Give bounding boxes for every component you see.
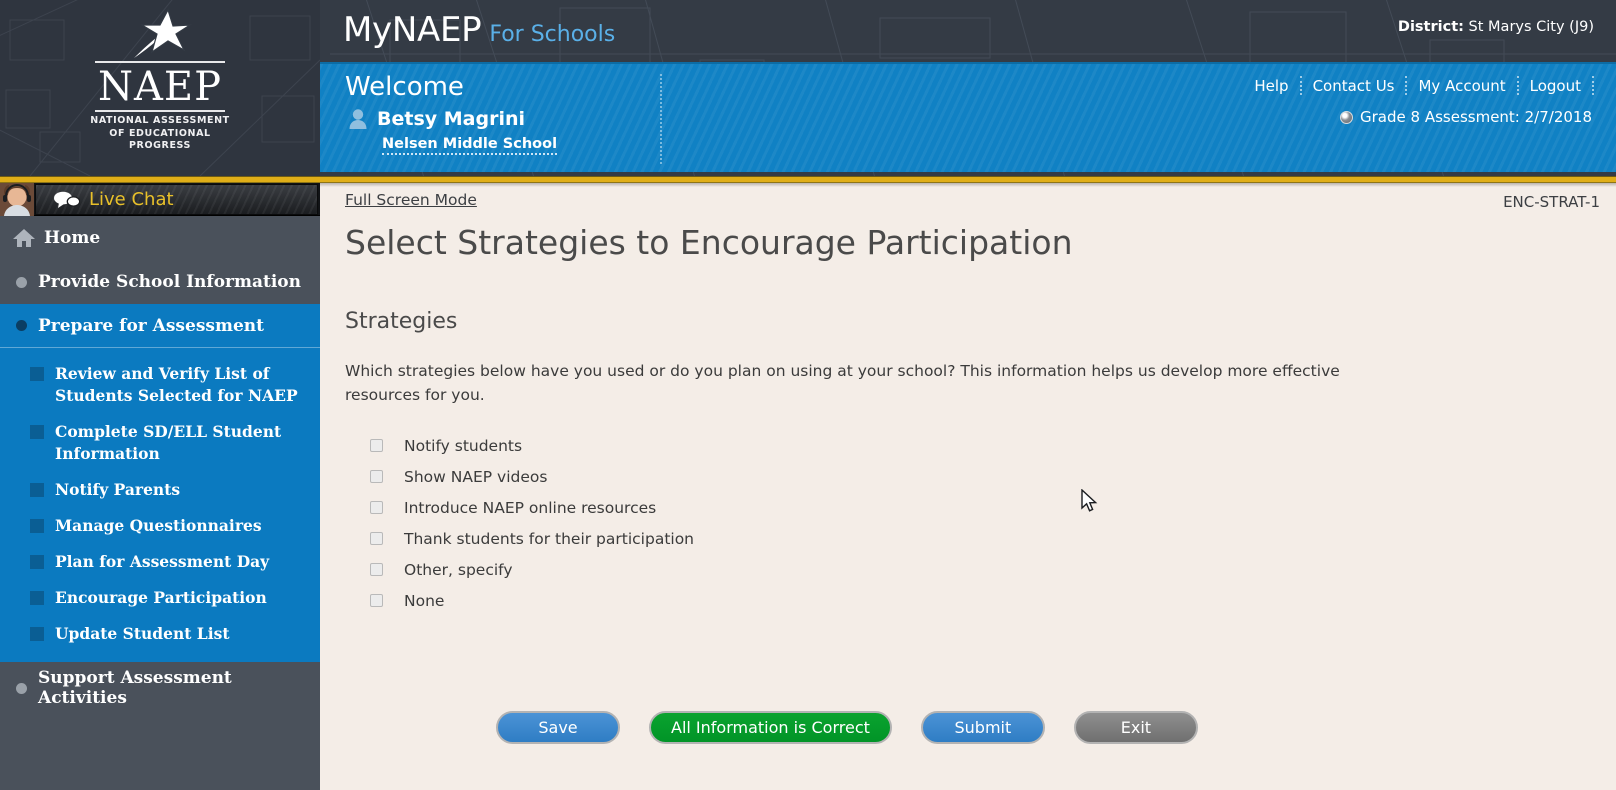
strategy-row: None <box>370 585 694 616</box>
checkbox-square-icon <box>30 367 44 381</box>
top-nav-links: Help Contact Us My Account Logout <box>1243 76 1594 95</box>
live-chat-agent-avatar <box>0 183 34 216</box>
exit-button[interactable]: Exit <box>1074 711 1198 744</box>
welcome-heading: Welcome <box>345 72 464 102</box>
strategy-checkbox-show-naep-videos[interactable] <box>370 470 383 483</box>
sidebar-item-home[interactable]: Home <box>0 216 320 260</box>
sidebar-item-review-and-verify-list[interactable]: Review and Verify List of Students Selec… <box>0 356 320 414</box>
sidebar-subitem-label: Manage Questionnaires <box>55 515 262 537</box>
sidebar-subitem-label: Review and Verify List of Students Selec… <box>55 363 310 407</box>
sidebar-subitem-label: Update Student List <box>55 623 229 645</box>
sidebar-item-encourage-participation[interactable]: Encourage Participation <box>0 580 320 616</box>
brand-mynaep: MyNAEP <box>343 10 481 50</box>
strategy-row: Other, specify <box>370 554 694 585</box>
strategy-label: Other, specify <box>404 561 513 579</box>
user-avatar-icon <box>348 108 368 130</box>
nav-link-my-account[interactable]: My Account <box>1407 77 1516 95</box>
sidebar-item-provide-school-information[interactable]: Provide School Information <box>0 260 320 304</box>
district-value: St Marys City (J9) <box>1469 19 1594 35</box>
gold-divider-bar <box>0 176 1616 183</box>
sidebar-item-prepare-for-assessment-label: Prepare for Assessment <box>38 316 264 336</box>
checkbox-square-icon <box>30 627 44 641</box>
mouse-cursor <box>1081 489 1098 514</box>
checkbox-square-icon <box>30 425 44 439</box>
bullet-icon <box>16 277 27 288</box>
strategy-checkbox-thank-students[interactable] <box>370 532 383 545</box>
brand-for-schools: For Schools <box>489 22 615 47</box>
strategies-checklist: Notify students Show NAEP videos Introdu… <box>370 430 694 616</box>
sidebar-item-manage-questionnaires[interactable]: Manage Questionnaires <box>0 508 320 544</box>
all-information-is-correct-button[interactable]: All Information is Correct <box>649 711 892 744</box>
checkbox-square-icon <box>30 591 44 605</box>
strategy-checkbox-notify-students[interactable] <box>370 439 383 452</box>
mynaep-application: NAEP NATIONAL ASSESSMENT OF EDUCATIONAL … <box>0 0 1616 790</box>
strategy-row: Introduce NAEP online resources <box>370 492 694 523</box>
save-button[interactable]: Save <box>496 711 620 744</box>
strategy-label: Show NAEP videos <box>404 468 547 486</box>
strategy-label: None <box>404 592 444 610</box>
sidebar-navigation: Live Chat Home Provide School Informatio… <box>0 183 320 790</box>
welcome-divider <box>660 74 662 164</box>
sidebar-item-home-label: Home <box>44 228 100 248</box>
strategy-checkbox-none[interactable] <box>370 594 383 607</box>
page-title: Select Strategies to Encourage Participa… <box>345 223 1072 262</box>
logo-subtitle-line1: NATIONAL ASSESSMENT <box>0 115 320 128</box>
full-screen-mode-link[interactable]: Full Screen Mode <box>345 191 477 209</box>
sidebar-item-provide-school-information-label: Provide School Information <box>38 272 301 292</box>
strategy-checkbox-other-specify[interactable] <box>370 563 383 576</box>
sidebar-item-plan-for-assessment-day[interactable]: Plan for Assessment Day <box>0 544 320 580</box>
agent-photo <box>0 183 34 216</box>
school-link[interactable]: Nelsen Middle School <box>382 136 557 155</box>
sidebar-subitem-label: Encourage Participation <box>55 587 267 609</box>
nav-separator <box>1592 76 1594 95</box>
live-chat-button[interactable]: Live Chat <box>35 184 318 215</box>
user-name: Betsy Magrini <box>377 108 525 130</box>
section-title: Strategies <box>345 309 457 334</box>
sidebar-item-support-assessment-activities-label: Support Assessment Activities <box>38 668 320 708</box>
bullet-icon <box>16 683 27 694</box>
chat-bubble-icon <box>54 191 80 208</box>
nav-link-contact-us[interactable]: Contact Us <box>1302 77 1406 95</box>
sidebar-subitem-label: Complete SD/ELL Student Information <box>55 421 310 465</box>
logo-subtitle-line3: PROGRESS <box>0 140 320 153</box>
logo-rule-top <box>95 61 225 63</box>
sidebar-subitem-label: Notify Parents <box>55 479 180 501</box>
district-label: District: <box>1398 19 1464 35</box>
page-code: ENC-STRAT-1 <box>1503 193 1600 211</box>
bullet-icon <box>16 320 27 331</box>
strategy-row: Show NAEP videos <box>370 461 694 492</box>
action-button-row: Save All Information is Correct Submit E… <box>496 711 1198 744</box>
sidebar-item-support-assessment-activities[interactable]: Support Assessment Activities <box>0 662 320 714</box>
strategy-label: Introduce NAEP online resources <box>404 499 656 517</box>
district-info: District: St Marys City (J9) <box>1398 19 1594 35</box>
logo-acronym: NAEP <box>0 65 320 109</box>
nav-link-logout[interactable]: Logout <box>1519 77 1592 95</box>
home-icon <box>12 228 36 248</box>
sidebar-item-complete-sd-ell-student-information[interactable]: Complete SD/ELL Student Information <box>0 414 320 472</box>
assessment-label: Grade 8 Assessment: 2/7/2018 <box>1360 108 1592 126</box>
naep-star-icon <box>112 8 208 60</box>
logo-subtitle-line2: OF EDUCATIONAL <box>0 128 320 141</box>
strategy-checkbox-introduce-naep-online-resources[interactable] <box>370 501 383 514</box>
strategy-row: Notify students <box>370 430 694 461</box>
checkbox-square-icon <box>30 555 44 569</box>
strategy-label: Thank students for their participation <box>404 530 694 548</box>
strategy-row: Thank students for their participation <box>370 523 694 554</box>
logo-rule-bottom <box>95 110 225 112</box>
checkbox-square-icon <box>30 483 44 497</box>
sidebar-item-prepare-for-assessment[interactable]: Prepare for Assessment <box>0 304 320 348</box>
welcome-bar: Welcome Betsy Magrini Nelsen Middle Scho… <box>320 62 1616 172</box>
user-info-row: Betsy Magrini <box>348 108 525 130</box>
sidebar-item-notify-parents[interactable]: Notify Parents <box>0 472 320 508</box>
submit-button[interactable]: Submit <box>921 711 1045 744</box>
naep-logo: NAEP NATIONAL ASSESSMENT OF EDUCATIONAL … <box>0 8 320 153</box>
assessment-radio-icon <box>1340 111 1353 124</box>
naep-logo-panel: NAEP NATIONAL ASSESSMENT OF EDUCATIONAL … <box>0 0 320 176</box>
checkbox-square-icon <box>30 519 44 533</box>
nav-link-help[interactable]: Help <box>1243 77 1299 95</box>
brand-title: MyNAEPFor Schools <box>343 10 615 50</box>
live-chat-bar[interactable]: Live Chat <box>0 183 320 216</box>
strategy-label: Notify students <box>404 437 522 455</box>
sidebar-item-update-student-list[interactable]: Update Student List <box>0 616 320 652</box>
main-content-area: Full Screen Mode ENC-STRAT-1 Select Stra… <box>320 187 1616 790</box>
intro-text: Which strategies below have you used or … <box>345 359 1375 407</box>
sidebar-subitem-label: Plan for Assessment Day <box>55 551 269 573</box>
assessment-info: Grade 8 Assessment: 2/7/2018 <box>1340 108 1592 126</box>
live-chat-label: Live Chat <box>89 189 174 210</box>
sidebar-section-prepare-for-assessment: Prepare for Assessment Review and Verify… <box>0 304 320 662</box>
